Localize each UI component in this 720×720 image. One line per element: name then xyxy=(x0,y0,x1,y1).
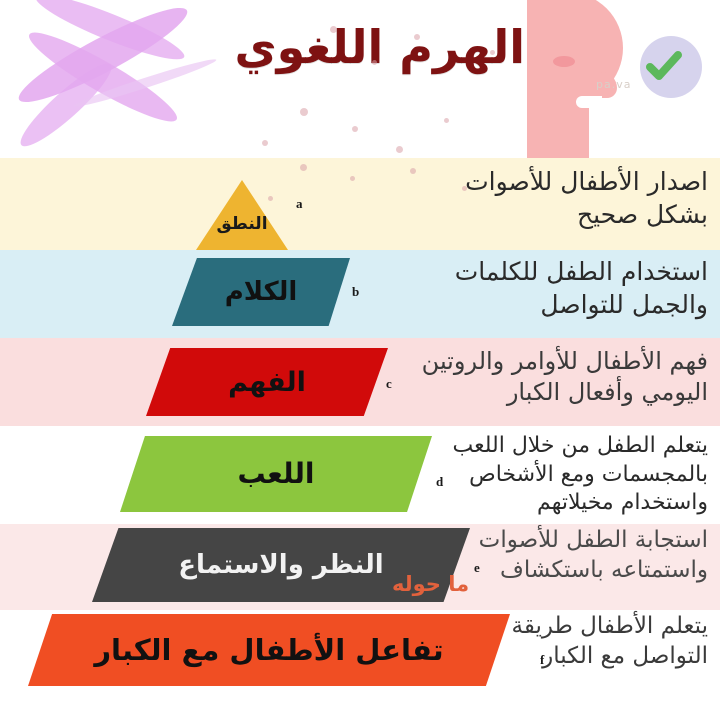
tier-description-speech: استخدام الطفل للكلمات والجمل للتواصل xyxy=(455,256,708,321)
tier-label-pronunciation: النطق xyxy=(216,216,267,233)
tier-marker-d: d xyxy=(436,474,443,490)
infographic-root: الهرم اللغوي pa.va النطق a اصدار الأطفال… xyxy=(0,0,720,720)
tier-overlap-note-look-listen: ما حوله xyxy=(392,572,469,596)
tier-description-look-listen: استجابة الطفل للأصوات واستمتاعه باستكشاف xyxy=(479,526,708,586)
speck xyxy=(330,26,337,33)
tier-description-play: يتعلم الطفل من خلال اللعب بالمجسمات ومع … xyxy=(453,432,708,518)
speck xyxy=(300,164,307,171)
speck xyxy=(352,126,358,132)
header: الهرم اللغوي pa.va xyxy=(0,0,720,158)
speck xyxy=(414,34,420,40)
tier-label-speech: الكلام xyxy=(225,279,298,305)
green-check-icon xyxy=(644,46,684,86)
desc-line: يتعلم الطفل من خلال اللعب xyxy=(453,432,708,461)
tier-marker-a: a xyxy=(296,196,303,212)
speck xyxy=(268,196,273,201)
desc-line: التواصل مع الكبار xyxy=(511,642,708,672)
speck xyxy=(490,50,495,55)
desc-line: اصدار الأطفال للأصوات xyxy=(465,166,708,199)
desc-line: استخدام الطفل للكلمات xyxy=(455,256,708,289)
face-chin xyxy=(527,104,583,158)
desc-line: واستمتاعه باستكشاف xyxy=(479,556,708,586)
tier-description-understanding: فهم الأطفال للأوامر والروتين اليومي وأفع… xyxy=(422,346,708,408)
face-blush xyxy=(553,56,575,67)
desc-line: اليومي وأفعال الكبار xyxy=(422,377,708,408)
desc-line: يتعلم الأطفال طريقة xyxy=(511,612,708,642)
face-mouth xyxy=(576,96,602,108)
desc-line: والجمل للتواصل xyxy=(455,289,708,322)
speck xyxy=(372,60,377,65)
tier-understanding[interactable]: الفهم xyxy=(146,348,388,416)
page-title: الهرم اللغوي xyxy=(234,20,525,74)
tier-description-pronunciation: اصدار الأطفال للأصوات بشكل صحيح xyxy=(465,166,708,231)
tier-description-interaction: يتعلم الأطفال طريقة التواصل مع الكبار xyxy=(511,612,708,672)
speck xyxy=(300,108,308,116)
tier-marker-c: c xyxy=(386,376,392,392)
tier-label-understanding: الفهم xyxy=(228,369,306,396)
speck xyxy=(350,176,355,181)
speck xyxy=(444,118,449,123)
desc-line: واستخدام مخيلاتهم xyxy=(453,489,708,518)
desc-line: بشكل صحيح xyxy=(465,199,708,232)
desc-line: بالمجسمات ومع الأشخاص xyxy=(453,461,708,490)
tier-label-play: اللعب xyxy=(238,460,315,488)
tier-label-interaction: تفاعل الأطفال مع الكبار xyxy=(94,636,443,665)
watermark-text: pa.va xyxy=(596,78,631,91)
tier-interaction[interactable]: تفاعل الأطفال مع الكبار xyxy=(28,614,510,686)
speck xyxy=(410,168,416,174)
desc-line: فهم الأطفال للأوامر والروتين xyxy=(422,346,708,377)
tier-marker-b: b xyxy=(352,284,359,300)
desc-line: استجابة الطفل للأصوات xyxy=(479,526,708,556)
tier-play[interactable]: اللعب xyxy=(120,436,432,512)
speck xyxy=(396,146,403,153)
tier-speech[interactable]: الكلام xyxy=(172,258,350,326)
tier-label-look-listen: النظر والاستماع xyxy=(178,552,383,578)
speck xyxy=(262,140,268,146)
